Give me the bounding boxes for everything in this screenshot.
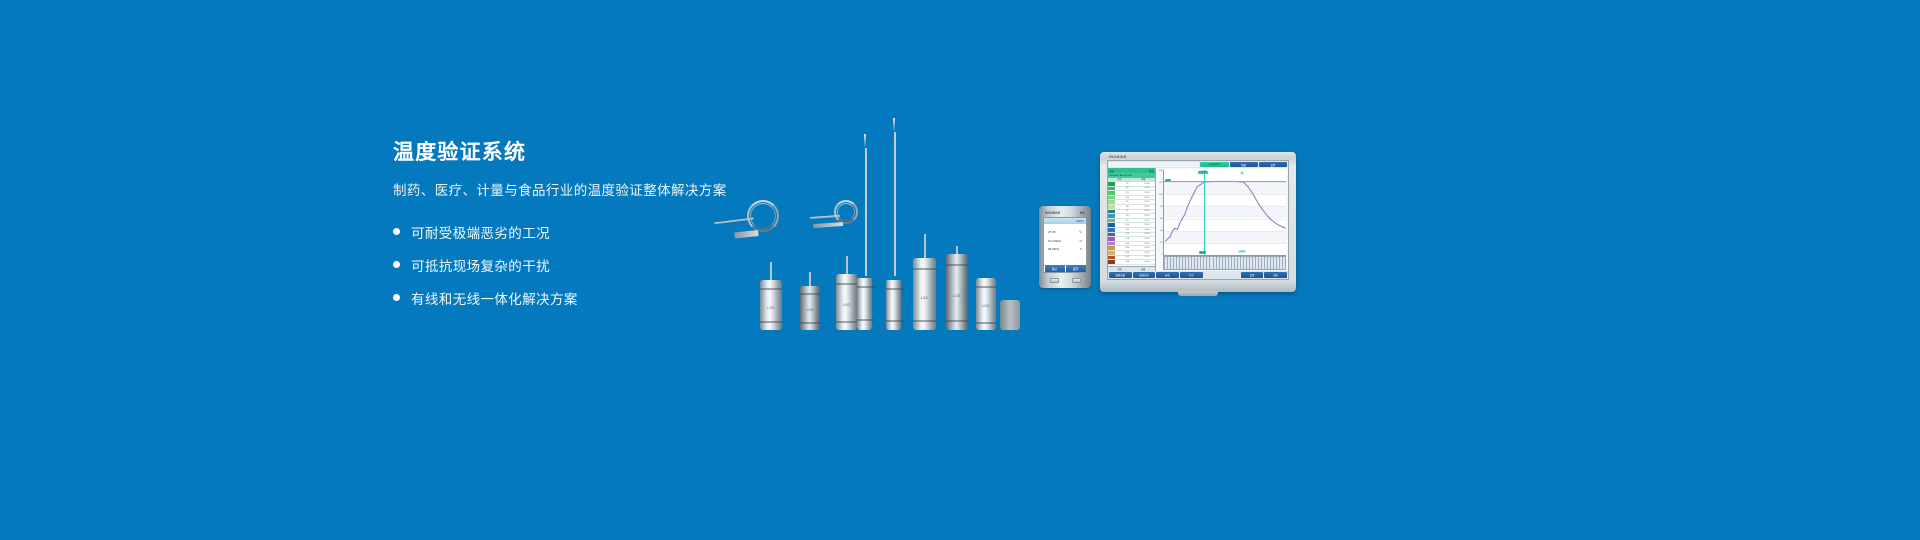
probe-cylinder-1: LOG (760, 262, 782, 330)
y-tick: 0 (1156, 254, 1163, 256)
toolbar-settings-button[interactable]: 设置 (1259, 162, 1287, 167)
table-row[interactable]: T-18121.6 (1108, 260, 1155, 265)
chart-area: 140 120 100 80 60 40 20 0 (1163, 170, 1286, 256)
reading-unit: P (1080, 247, 1082, 251)
probe-label: LOG (836, 303, 857, 307)
handheld-brand: INONIKE (1045, 211, 1061, 215)
handheld-back-button[interactable]: 返回 (1066, 265, 1086, 272)
hero-banner: 温度验证系统 制药、医疗、计量与食品行业的温度验证整体解决方案 可耐受极端恶劣的… (0, 0, 1920, 540)
probe-label: LOG (976, 304, 996, 308)
toolbar-status-badge: A-10-20℃ (1200, 162, 1228, 167)
probe-label: LOG (913, 296, 936, 300)
bullet-dot-icon (393, 294, 400, 301)
keypad-key[interactable] (1050, 278, 1059, 283)
monitor-stand (1178, 291, 1218, 296)
footer-button-acquire[interactable]: 数据采集 (1109, 272, 1132, 278)
y-tick: 80 (1156, 206, 1163, 208)
footer-button-exit[interactable]: 退出 (1264, 272, 1287, 278)
probe-cylinder-6: LOG (976, 278, 996, 330)
handheld-readout-list: 27.35 ℃ 10.2%RH % 98.0kPa P (1044, 224, 1086, 265)
plot-canvas: 121.6℃ 121 00:22 F0 00:58 (1163, 170, 1286, 256)
y-tick: 20 (1156, 242, 1163, 244)
channel-panel: 通道 数值 WE-ALR.LAN 00:21:45 探头 温度 T-1121.4… (1108, 168, 1156, 271)
probe-cylinder-4: LOG (913, 234, 936, 330)
reading-label: 27.35 (1048, 230, 1056, 234)
x-axis-scroller[interactable] (1163, 256, 1286, 270)
software-footer-toolbar: 数据采集 曲线分析 报告 打印 设置 退出 (1108, 271, 1288, 279)
list-item: 98.0kPa P (1048, 247, 1082, 251)
keypad-key[interactable] (1072, 278, 1081, 283)
reading-unit: ℃ (1079, 230, 1082, 234)
probe-needle-long (857, 144, 875, 330)
footer-button-analyze[interactable]: 曲线分析 (1133, 272, 1156, 278)
probe-label: LOG (946, 294, 968, 298)
monitor-screen: A-10-20℃ 数据 设置 通道 数值 WE-ALR.LAN 00:21:45… (1107, 160, 1289, 280)
probe-cylinder-5: LOG (946, 246, 968, 330)
channel-list[interactable]: T-1121.4 T-2121.3 T-3121.6 T-4121.7 T-51… (1108, 182, 1155, 266)
monitor-device: INONIKE A-10-20℃ 数据 设置 通道 数值 WE-ALR.LAN … (1100, 152, 1296, 292)
handheld-button-bar: 确认 返回 (1044, 265, 1086, 272)
handheld-menu-label: MENU (1076, 220, 1084, 223)
feature-label: 可抵抗现场复杂的干扰 (411, 255, 550, 275)
channel-header-title: 通道 (1110, 169, 1114, 173)
toolbar-spacer (1109, 162, 1199, 167)
cursor-tag-pale-top: F0 (1240, 172, 1245, 175)
bullet-dot-icon (393, 228, 400, 235)
footer-button-report[interactable]: 报告 (1156, 272, 1179, 278)
software-body: 通道 数值 WE-ALR.LAN 00:21:45 探头 温度 T-1121.4… (1108, 168, 1288, 271)
toolbar-data-button[interactable]: 数据 (1230, 162, 1258, 167)
reading-label: 98.0kPa (1048, 247, 1059, 251)
cursor-tag-top: 121.6℃ (1198, 171, 1208, 174)
probe-needle-tall (886, 130, 904, 330)
handheld-device[interactable]: INONIKE M1 MENU 27.35 ℃ 10.2%RH % (1039, 206, 1091, 288)
handheld-confirm-button[interactable]: 确认 (1045, 265, 1065, 272)
y-tick: 140 (1156, 170, 1163, 172)
cursor-tag-bottom: 00:22 (1199, 251, 1206, 254)
channel-header-value: 数值 (1149, 169, 1153, 173)
feature-label: 有线和无线一体化解决方案 (411, 288, 578, 308)
probe-label: LOG (800, 308, 820, 312)
chart-panel: 140 120 100 80 60 40 20 0 (1156, 168, 1288, 271)
handheld-screen: MENU 27.35 ℃ 10.2%RH % 98.0kPa P (1043, 217, 1087, 273)
monitor-brand: INONIKE (1109, 155, 1127, 159)
reading-unit: % (1079, 239, 1082, 243)
handheld-keypad[interactable] (1043, 276, 1087, 285)
y-tick: 120 (1156, 182, 1163, 184)
handheld-model: M1 (1080, 211, 1085, 215)
footer-spacer (1204, 272, 1240, 278)
probe-coil-large (714, 196, 794, 240)
bullet-dot-icon (393, 261, 400, 268)
probe-cylinder-2: LOG (800, 272, 820, 330)
y-tick: 60 (1156, 218, 1163, 220)
feature-label: 可耐受极端恶劣的工况 (411, 222, 550, 242)
probe-label: LOG (760, 306, 782, 310)
product-imagery: LOG LOG LOG LOG LOG (700, 110, 1260, 330)
probe-cylinder-3: LOG (836, 256, 857, 330)
cursor-tag-pale-bottom: 00:58 (1238, 250, 1245, 253)
footer-button-settings[interactable]: 设置 (1241, 272, 1264, 278)
y-axis: 140 120 100 80 60 40 20 0 (1156, 170, 1163, 256)
software-toolbar: A-10-20℃ 数据 设置 (1108, 161, 1288, 168)
power-led-icon (1111, 286, 1113, 288)
list-item: 10.2%RH % (1048, 239, 1082, 243)
y-tick: 100 (1156, 194, 1163, 196)
y-tick: 40 (1156, 230, 1163, 232)
cursor-tag-left: 121 (1165, 179, 1171, 182)
list-item: 27.35 ℃ (1048, 230, 1082, 234)
probe-disc (1000, 300, 1020, 330)
reading-label: 10.2%RH (1048, 239, 1061, 243)
temperature-curve (1164, 170, 1286, 255)
footer-button-print[interactable]: 打印 (1180, 272, 1203, 278)
